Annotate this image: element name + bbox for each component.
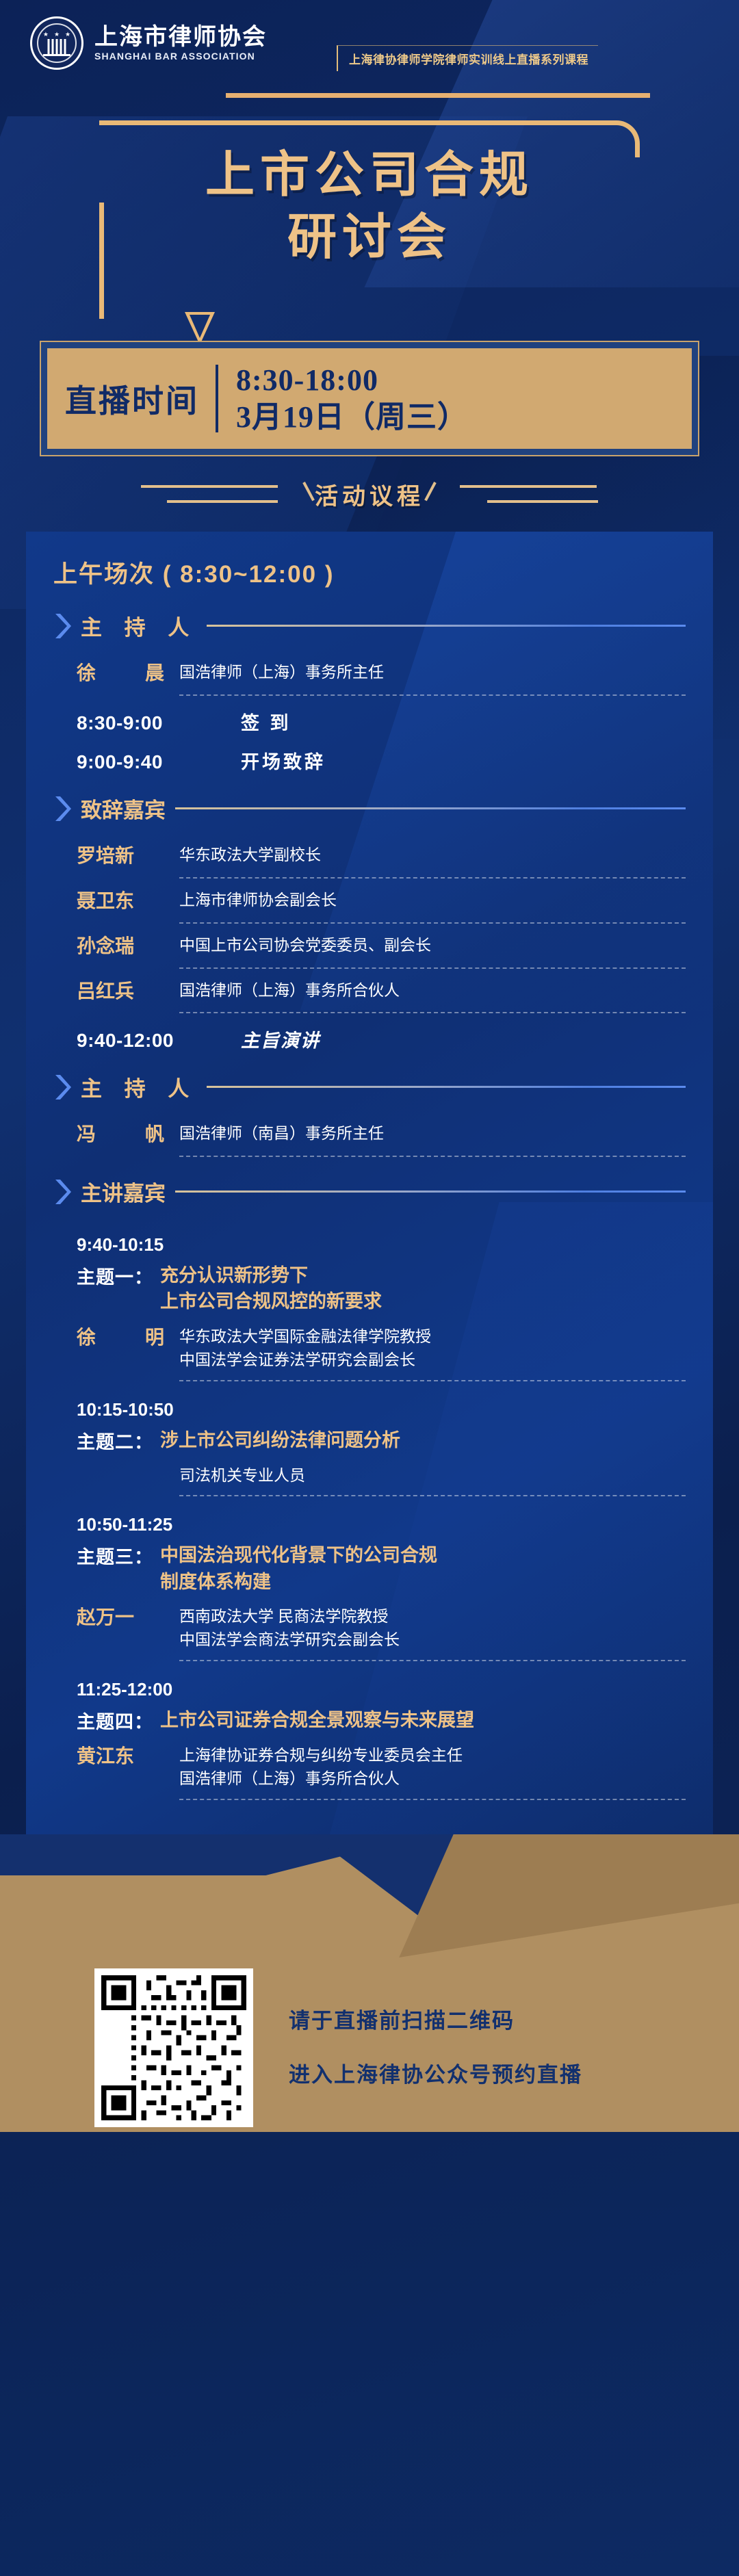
- chevron-right-icon: [53, 1074, 71, 1101]
- topic-label: 主题一：: [77, 1262, 153, 1289]
- schedule-desc: 签 到: [241, 708, 291, 735]
- topic-title-part: 制度体系构建: [160, 1569, 437, 1595]
- topic-title-part: 涉上市公司纠纷法律问题分析: [160, 1427, 400, 1453]
- course-series-badge: 上海律协律师学院律师实训线上直播系列课程: [337, 45, 598, 71]
- section-label-welcome-guests: 致辞嘉宾: [81, 793, 166, 824]
- topic-title-line: 主题二： 涉上市公司纠纷法律问题分析: [77, 1427, 686, 1454]
- topic-block: 9:40-10:15 主题一： 充分认识新形势下 上市公司合规风控的新要求: [53, 1217, 686, 1315]
- speech-bubble-tail-icon: [185, 312, 215, 345]
- title-block: 上市公司合规 研讨会: [0, 107, 739, 333]
- section-label-host-2: 主 持 人: [81, 1071, 197, 1102]
- time-range-value: 8:30-18:00: [236, 362, 468, 399]
- person-role-line: 中国法学会证券法学研究会副会长: [179, 1348, 686, 1372]
- person-role-line: 上海市律师协会副会长: [179, 888, 686, 912]
- main-title-line-1: 上市公司合规: [0, 146, 739, 205]
- person-row: 司法机关专业人员: [53, 1454, 686, 1487]
- livestream-time-inner: 直播时间 8:30-18:00 3月19日（周三）: [47, 348, 692, 449]
- person-roles: 华东政法大学国际金融法律学院教授 中国法学会证券法学研究会副会长: [179, 1325, 686, 1372]
- header-gold-rule: [226, 93, 650, 98]
- topic-title: 充分认识新形势下 上市公司合规风控的新要求: [160, 1262, 382, 1315]
- schedule-row: 8:30-9:00 签 到: [53, 696, 686, 735]
- topic-time: 11:25-12:00: [77, 1679, 686, 1700]
- person-row: 徐 明 华东政法大学国际金融法律学院教授 中国法学会证券法学研究会副会长: [53, 1315, 686, 1372]
- topic-block: 10:50-11:25 主题三： 中国法治现代化背景下的公司合规 制度体系构建: [53, 1496, 686, 1595]
- person-roles: 上海市律师协会副会长: [179, 888, 686, 912]
- topic-title-part: 上市公司证券合规全景观察与未来展望: [160, 1707, 474, 1733]
- schedule-desc: 主旨演讲: [241, 1026, 320, 1052]
- person-row: 聂卫东 上海市律师协会副会长: [53, 879, 686, 914]
- poster-header: ★★★ 上海市律师协会 SHANGHAI BAR ASSOCIATION 上海律…: [0, 0, 739, 103]
- person-role-line: 西南政法大学 民商法学院教授: [179, 1604, 686, 1628]
- topic-title: 中国法治现代化背景下的公司合规 制度体系构建: [160, 1542, 437, 1595]
- person-name: 冯 帆: [77, 1121, 179, 1147]
- person-roles: 国浩律师（南昌）事务所主任: [179, 1121, 686, 1145]
- person-roles: 华东政法大学副校长: [179, 843, 686, 867]
- seal-pillars-icon: [48, 39, 66, 54]
- person-name: 聂卫东: [77, 888, 179, 914]
- topic-time: 10:15-10:50: [77, 1399, 686, 1420]
- section-rule: [175, 1191, 686, 1193]
- qr-code-svg: [101, 1975, 246, 2120]
- person-role-line: 上海律协证券合规与纠纷专业委员会主任: [179, 1743, 686, 1767]
- person-name: 吕红兵: [77, 978, 179, 1004]
- topic-label: 主题四：: [77, 1707, 153, 1734]
- topic-title-part: 充分认识新形势下: [160, 1262, 382, 1288]
- person-name: 孙念瑞: [77, 933, 179, 959]
- qr-code-image[interactable]: [94, 1968, 253, 2127]
- person-name: 赵万一: [77, 1604, 179, 1630]
- chevron-right-icon: [53, 612, 71, 640]
- footer-cta-line-1: 请于直播前扫描二维码: [289, 2010, 582, 2031]
- person-role-line: 国浩律师（上海）事务所合伙人: [179, 978, 686, 1002]
- topic-title: 涉上市公司纠纷法律问题分析: [160, 1427, 400, 1453]
- topic-block: 10:15-10:50 主题二： 涉上市公司纠纷法律问题分析: [53, 1381, 686, 1454]
- person-roles: 中国上市公司协会党委委员、副会长: [179, 933, 686, 957]
- organization-name-group: 上海市律师协会 SHANGHAI BAR ASSOCIATION: [94, 25, 267, 62]
- schedule-desc: 开场致辞: [241, 747, 326, 774]
- person-name: 黄江东: [77, 1743, 179, 1769]
- person-name: 徐 晨: [77, 660, 179, 686]
- organization-logo-group: ★★★ 上海市律师协会 SHANGHAI BAR ASSOCIATION: [30, 16, 267, 70]
- schedule-row: 9:00-9:40 开场致辞: [53, 735, 686, 774]
- person-roles: 司法机关专业人员: [179, 1463, 686, 1487]
- person-role-line: 华东政法大学国际金融法律学院教授: [179, 1325, 686, 1349]
- person-role-line: 中国上市公司协会党委委员、副会长: [179, 933, 686, 957]
- person-row: 孙念瑞 中国上市公司协会党委委员、副会长: [53, 924, 686, 959]
- livestream-time-box: 直播时间 8:30-18:00 3月19日（周三）: [40, 341, 699, 456]
- person-role-line: 司法机关专业人员: [179, 1463, 686, 1487]
- person-roles: 国浩律师（上海）事务所主任: [179, 660, 686, 684]
- time-box-values: 8:30-18:00 3月19日（周三）: [218, 362, 468, 435]
- main-title: 上市公司合规 研讨会: [0, 146, 739, 267]
- person-role-line: 国浩律师（上海）事务所合伙人: [179, 1767, 686, 1791]
- date-value: 3月19日（周三）: [236, 399, 468, 436]
- person-role-line: 华东政法大学副校长: [179, 843, 686, 867]
- schedule-time: 9:00-9:40: [77, 751, 220, 773]
- seal-stars-icon: ★★★: [43, 31, 70, 38]
- agenda-decor-right-icon: [434, 478, 598, 510]
- person-name: 徐 明: [77, 1325, 179, 1351]
- section-rule: [175, 807, 686, 809]
- topic-label: 主题三：: [77, 1542, 153, 1569]
- session-title: 上午场次 ( 8:30~12:00 ): [53, 555, 686, 590]
- person-row: 吕红兵 国浩律师（上海）事务所合伙人: [53, 969, 686, 1004]
- agenda-content-card: 上午场次 ( 8:30~12:00 ) 主 持 人 徐 晨 国浩律师（上海）事务…: [26, 532, 713, 1834]
- poster-footer: 请于直播前扫描二维码 进入上海律协公众号预约直播: [0, 1834, 739, 2132]
- agenda-heading-text: 活动议程: [315, 478, 424, 511]
- section-label-host-1: 主 持 人: [81, 610, 197, 641]
- section-header-host-2: 主 持 人: [53, 1071, 686, 1102]
- row-divider: [179, 1799, 686, 1800]
- person-row: 黄江东 上海律协证券合规与纠纷专业委员会主任 国浩律师（上海）事务所合伙人: [53, 1734, 686, 1791]
- footer-cta-line-2: 进入上海律协公众号预约直播: [289, 2064, 582, 2085]
- topic-title: 上市公司证券合规全景观察与未来展望: [160, 1707, 474, 1733]
- person-row: 冯 帆 国浩律师（南昌）事务所主任: [53, 1112, 686, 1147]
- person-roles: 国浩律师（上海）事务所合伙人: [179, 978, 686, 1002]
- topic-title-line: 主题一： 充分认识新形势下 上市公司合规风控的新要求: [77, 1262, 686, 1315]
- agenda-heading-block: 活动议程: [0, 456, 739, 532]
- chevron-right-icon: [53, 1178, 71, 1206]
- section-label-keynote: 主讲嘉宾: [81, 1176, 166, 1207]
- org-name-cn: 上海市律师协会: [94, 25, 267, 50]
- bar-association-seal-icon: ★★★: [30, 16, 83, 70]
- person-row: 徐 晨 国浩律师（上海）事务所主任: [53, 651, 686, 686]
- person-name: 罗培新: [77, 843, 179, 869]
- topic-title-line: 主题四： 上市公司证券合规全景观察与未来展望: [77, 1707, 686, 1734]
- footer-content: 请于直播前扫描二维码 进入上海律协公众号预约直播: [0, 1968, 739, 2127]
- person-role-line: 中国法学会商法学研究会副会长: [179, 1628, 686, 1652]
- person-row: 罗培新 华东政法大学副校长: [53, 833, 686, 869]
- schedule-row: 9:40-12:00 主旨演讲: [53, 1013, 686, 1052]
- topic-time: 9:40-10:15: [77, 1234, 686, 1256]
- footer-cta-text: 请于直播前扫描二维码 进入上海律协公众号预约直播: [289, 2010, 582, 2085]
- section-header-keynote: 主讲嘉宾: [53, 1176, 686, 1207]
- section-rule: [207, 1086, 686, 1088]
- footer-tone-shape: [399, 1834, 739, 1957]
- schedule-time: 8:30-9:00: [77, 712, 220, 734]
- person-roles: 西南政法大学 民商法学院教授 中国法学会商法学研究会副会长: [179, 1604, 686, 1652]
- section-rule: [207, 625, 686, 627]
- row-divider: [179, 1156, 686, 1157]
- person-roles: 上海律协证券合规与纠纷专业委员会主任 国浩律师（上海）事务所合伙人: [179, 1743, 686, 1791]
- poster-root: ★★★ 上海市律师协会 SHANGHAI BAR ASSOCIATION 上海律…: [0, 0, 739, 2576]
- person-row: 赵万一 西南政法大学 民商法学院教授 中国法学会商法学研究会副会长: [53, 1595, 686, 1652]
- agenda-decor-left-icon: [141, 478, 305, 510]
- schedule-time: 9:40-12:00: [77, 1030, 220, 1052]
- seal-base-icon: [43, 54, 70, 56]
- section-header-welcome-guests: 致辞嘉宾: [53, 793, 686, 824]
- chevron-right-icon: [53, 795, 71, 822]
- main-title-line-2: 研讨会: [0, 209, 739, 267]
- topic-label: 主题二：: [77, 1427, 153, 1454]
- section-header-host-1: 主 持 人: [53, 610, 686, 641]
- time-box-label: 直播时间: [65, 362, 216, 435]
- person-role-line: 国浩律师（南昌）事务所主任: [179, 1121, 686, 1145]
- topic-title-part: 上市公司合规风控的新要求: [160, 1288, 382, 1314]
- person-role-line: 国浩律师（上海）事务所主任: [179, 660, 686, 684]
- topic-block: 11:25-12:00 主题四： 上市公司证券合规全景观察与未来展望: [53, 1661, 686, 1734]
- topic-time: 10:50-11:25: [77, 1514, 686, 1535]
- topic-title-part: 中国法治现代化背景下的公司合规: [160, 1542, 437, 1568]
- org-name-en: SHANGHAI BAR ASSOCIATION: [94, 51, 267, 62]
- topic-title-line: 主题三： 中国法治现代化背景下的公司合规 制度体系构建: [77, 1542, 686, 1595]
